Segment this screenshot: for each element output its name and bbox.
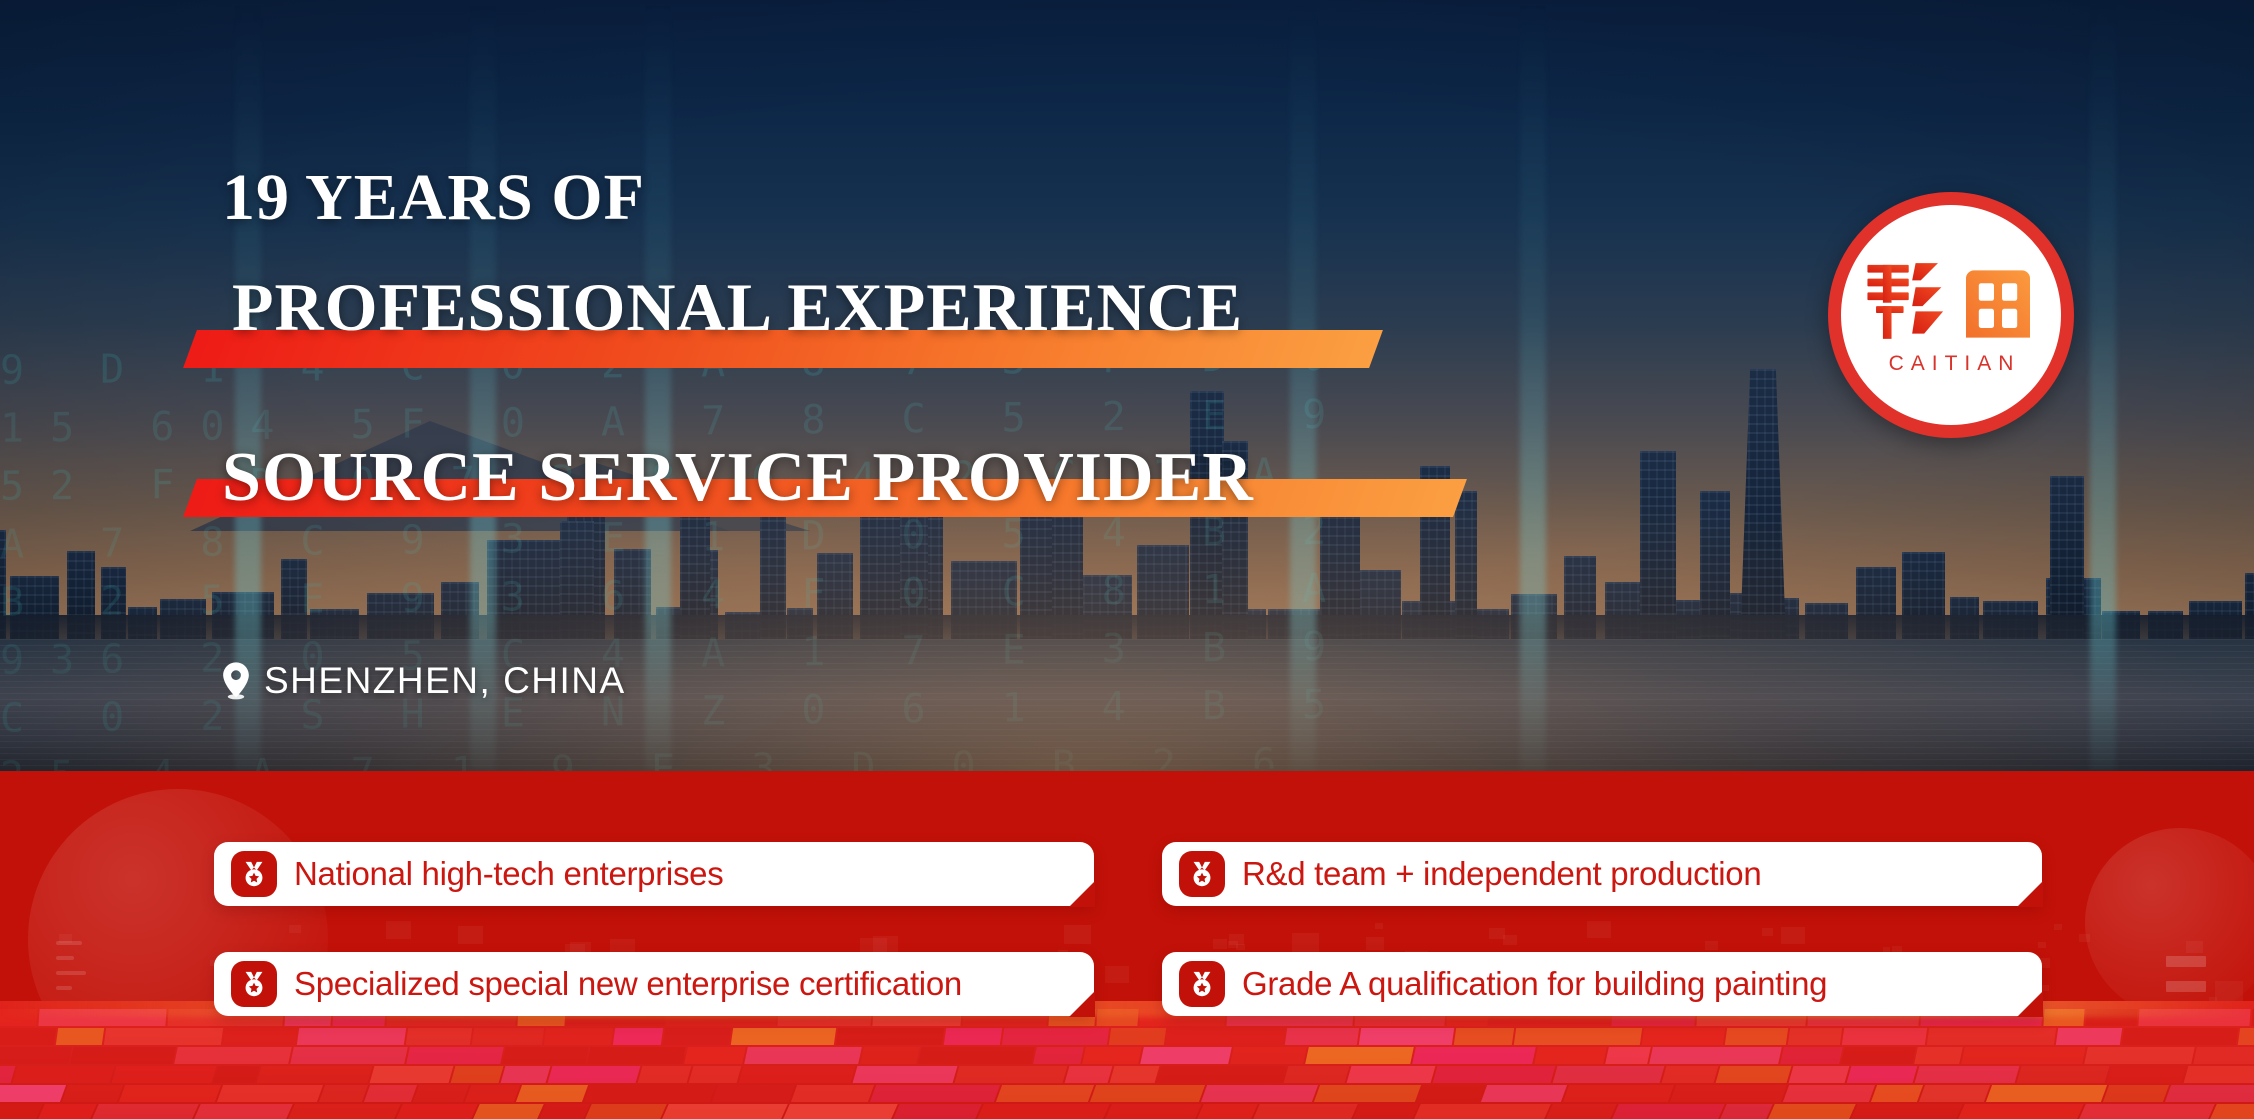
logo-wordmark: CAITIAN <box>1882 352 2021 376</box>
floor-tile <box>584 1085 716 1102</box>
floor-tile <box>1201 1085 1318 1102</box>
floor-tile <box>501 1066 551 1083</box>
floor-tile <box>1359 1028 1454 1045</box>
floor-tile <box>1780 1047 1843 1064</box>
floor-tile <box>860 1047 920 1064</box>
floor-tile <box>918 1047 1035 1064</box>
floor-tile <box>1514 1028 1642 1045</box>
floor-tile <box>2184 1066 2254 1083</box>
feature-pill-label: Specialized special new enterprise certi… <box>294 965 962 1003</box>
floor-tile <box>1914 1047 1963 1064</box>
floor-tile <box>2209 1104 2254 1119</box>
floor-tile <box>613 1028 663 1045</box>
floor-tile <box>1788 1028 1842 1045</box>
location-pin-icon <box>222 662 250 700</box>
floor-tile <box>587 1047 686 1064</box>
floor-tile <box>1065 1066 1113 1083</box>
floor-tile <box>996 1085 1094 1102</box>
floor-tile <box>193 1104 293 1119</box>
floor-tile <box>1553 1066 1665 1083</box>
floor-tile <box>1033 1047 1084 1064</box>
floor-tile <box>1611 1104 1725 1119</box>
floor-tile <box>2056 1028 2122 1045</box>
floor-tile <box>584 1104 667 1119</box>
floor-tile <box>1957 1104 2084 1119</box>
logo-cai-character-icon <box>1864 258 1950 344</box>
floor-tile <box>1157 1066 1287 1083</box>
floor-tile <box>1716 1066 1792 1083</box>
floor-tile <box>2165 1085 2254 1102</box>
texture-square <box>2186 941 2203 953</box>
floor-tile <box>791 1085 874 1102</box>
floor-tile <box>1454 1028 1514 1045</box>
floor-tile <box>37 1104 97 1119</box>
texture-square <box>1503 935 1517 945</box>
floor-tile <box>395 1104 478 1119</box>
floor-tile <box>663 1028 731 1045</box>
texture-square <box>1366 937 1384 950</box>
texture-square <box>1781 927 1805 944</box>
floor-tile <box>870 1085 1000 1102</box>
floor-tile <box>287 1104 401 1119</box>
floor-tile <box>2084 1047 2195 1064</box>
floor-tile <box>1767 1104 1856 1119</box>
floor-tile <box>290 1047 408 1064</box>
floor-tile <box>1841 1047 1916 1064</box>
floor-tile <box>13 1066 115 1083</box>
floor-tile <box>1545 1104 1617 1119</box>
floor-tile <box>1082 1047 1142 1064</box>
floor-tile <box>1534 1047 1607 1064</box>
floor-tile <box>1413 1104 1551 1119</box>
floor-tile <box>1196 1104 1258 1119</box>
floor-tile <box>1986 1085 2107 1102</box>
floor-tile <box>1725 1028 1788 1045</box>
location-block: SHENZHEN, CHINA <box>222 660 626 702</box>
floor-tile <box>1927 1028 2056 1045</box>
floor-tile <box>406 1047 504 1064</box>
floor-tile <box>2078 1104 2215 1119</box>
floor-tile <box>112 1066 217 1083</box>
floor-tile <box>782 1104 898 1119</box>
floor-tile <box>744 1047 862 1064</box>
floor-tile <box>638 1066 692 1083</box>
floor-tile <box>214 1066 260 1083</box>
floor-tile <box>853 1066 958 1083</box>
floor-tile <box>548 1066 641 1083</box>
texture-square <box>1762 928 1773 936</box>
medal-icon <box>1179 851 1225 897</box>
location-label: SHENZHEN, CHINA <box>264 660 626 702</box>
floor-tile <box>1719 1104 1773 1119</box>
floor-tile <box>661 1104 788 1119</box>
floor-tile <box>472 1104 544 1119</box>
floor-tile <box>1284 1066 1350 1083</box>
texture-square <box>1105 966 1129 983</box>
feature-pill-2[interactable]: R&d team + independent production <box>1162 842 2042 906</box>
floor-tile <box>955 1066 1068 1083</box>
feature-pill-label: Grade A qualification for building paint… <box>1242 965 1827 1003</box>
feature-pill-1[interactable]: National high-tech enterprises <box>214 842 1094 906</box>
texture-square <box>289 925 301 933</box>
floor-tile <box>538 1104 590 1119</box>
floor-tile <box>119 1085 221 1102</box>
floor-tile <box>892 1104 982 1119</box>
floor-tile <box>1412 1047 1536 1064</box>
medal-icon <box>231 961 277 1007</box>
floor-tile <box>56 1028 104 1045</box>
medal-icon <box>231 851 277 897</box>
floor-tile <box>712 1085 795 1102</box>
floor-tile <box>976 1104 1110 1119</box>
floor-tile <box>1662 1066 1719 1083</box>
floor-tile <box>0 1028 56 1045</box>
floor-tile <box>1110 1066 1160 1083</box>
floor-tile <box>1642 1028 1725 1045</box>
floor-tile <box>0 1047 72 1064</box>
floor-tile <box>1649 1047 1782 1064</box>
texture-square <box>2054 924 2062 930</box>
texture-square <box>2038 942 2046 948</box>
floor-tile <box>2017 1066 2110 1083</box>
floor-tile <box>406 1028 472 1045</box>
floor-tile <box>1230 1047 1307 1064</box>
floor-tile <box>451 1066 504 1083</box>
floor-tile <box>1417 1085 1485 1102</box>
floor-tile <box>1347 1066 1436 1083</box>
floor-tile <box>2193 1047 2254 1064</box>
floor-tile <box>1433 1066 1556 1083</box>
floor-tile <box>62 1085 123 1102</box>
floor-tile <box>217 1085 323 1102</box>
floor-tile <box>1109 1028 1166 1045</box>
floor-tile <box>1481 1085 1567 1102</box>
floor-tile <box>516 1085 588 1102</box>
texture-square <box>386 921 411 939</box>
floor-tile <box>1166 1028 1285 1045</box>
headline-line-1: 19 YEARS OF <box>222 160 645 236</box>
floor-tile <box>739 1066 856 1083</box>
floor-tile <box>1961 1047 2086 1064</box>
floor-tile <box>0 1104 43 1119</box>
features-band <box>0 771 2254 1119</box>
floor-tile <box>364 1085 417 1102</box>
feature-pill-label: R&d team + independent production <box>1242 855 1761 893</box>
floor-tile <box>1847 1066 1918 1083</box>
floor-tile <box>1314 1085 1421 1102</box>
company-logo[interactable]: CAITIAN <box>1828 192 2074 438</box>
floor-tile <box>731 1028 836 1045</box>
floor-tile <box>2238 1028 2254 1045</box>
texture-square <box>1064 925 1091 944</box>
feature-pill-label: National high-tech enterprises <box>294 855 723 893</box>
floor-tile <box>2107 1066 2187 1083</box>
headline-line-2: PROFESSIONAL EXPERIENCE <box>232 268 1243 347</box>
floor-tile <box>502 1047 589 1064</box>
floor-tile <box>1919 1085 1990 1102</box>
floor-tile <box>944 1028 1002 1045</box>
texture-square <box>1213 939 1227 949</box>
floor-tile <box>836 1028 944 1045</box>
floor-tile <box>1871 1085 1923 1102</box>
floor-tile <box>1285 1028 1359 1045</box>
floor-tile <box>174 1047 292 1064</box>
floor-tile <box>319 1085 368 1102</box>
texture-square <box>1375 923 1383 929</box>
feature-pill-4[interactable]: Grade A qualification for building paint… <box>1162 952 2042 1016</box>
floor-tile <box>1140 1047 1232 1064</box>
texture-square <box>458 926 483 944</box>
floor-tile <box>1670 1085 1787 1102</box>
floor-tile <box>1002 1028 1109 1045</box>
floor-tile <box>1563 1085 1674 1102</box>
floor-tile <box>413 1085 469 1102</box>
logo-marks <box>1864 258 2038 344</box>
floor-tile <box>223 1028 297 1045</box>
floor-tile <box>2103 1085 2169 1102</box>
floor-tile <box>1352 1104 1419 1119</box>
floor-tile <box>1842 1028 1927 1045</box>
headline-line-3: SOURCE SERVICE PROVIDER <box>222 438 1254 518</box>
promo-banner: 9 D 1 4 C 0 2 A 8 7 3 F D 0 15 604 5F 0 … <box>0 0 2254 1119</box>
floor-tile <box>104 1028 223 1045</box>
floor-tile <box>544 1028 613 1045</box>
decor-mosaic-floor <box>0 1001 2254 1119</box>
floor-tile <box>472 1028 544 1045</box>
texture-square <box>2215 981 2243 1001</box>
floor-tile <box>1915 1066 2020 1083</box>
floor-tile <box>1252 1104 1358 1119</box>
texture-square <box>1587 921 1611 938</box>
floor-tile <box>1605 1047 1651 1064</box>
floor-tile <box>1305 1047 1414 1064</box>
texture-square <box>1292 933 1319 952</box>
floor-tile <box>0 1085 66 1102</box>
feature-pill-3[interactable]: Specialized special new enterprise certi… <box>214 952 1094 1016</box>
floor-tile <box>465 1085 520 1102</box>
floor-tile <box>257 1066 373 1083</box>
floor-tile <box>297 1028 406 1045</box>
texture-square <box>2079 934 2090 942</box>
medal-icon <box>1179 961 1225 1007</box>
texture-square <box>1705 941 1718 950</box>
texture-square <box>1229 934 1244 945</box>
floor-tile <box>684 1047 746 1064</box>
floor-tile <box>1789 1066 1850 1083</box>
logo-tian-character-icon <box>1958 264 2038 344</box>
floor-tile <box>2122 1028 2238 1045</box>
floor-tile <box>1850 1104 1963 1119</box>
floor-tile <box>91 1104 199 1119</box>
floor-tile <box>370 1066 454 1083</box>
floor-tile <box>1104 1104 1202 1119</box>
floor-tile <box>1783 1085 1875 1102</box>
floor-tile <box>70 1047 176 1064</box>
floor-tile <box>689 1066 742 1083</box>
floor-tile <box>1090 1085 1205 1102</box>
